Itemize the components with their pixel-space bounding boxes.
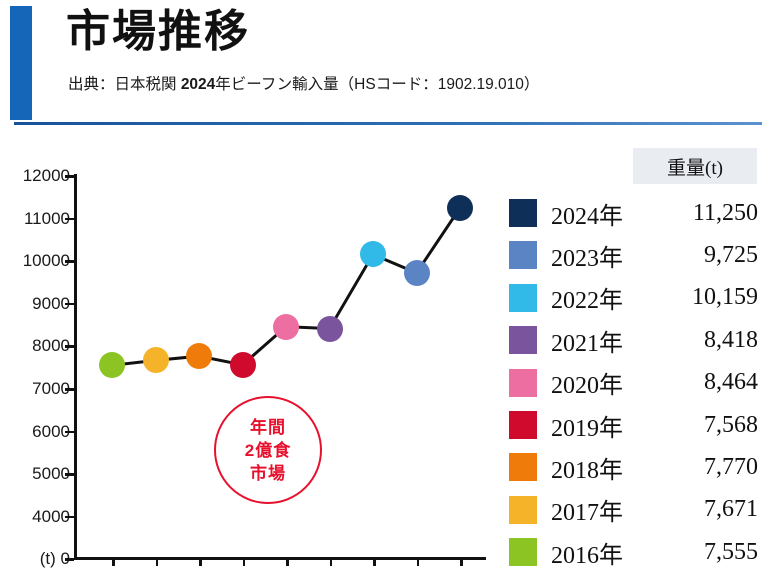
- page-subtitle: 出典：日本税関 2024年ビーフン輸入量（HSコード：1902.19.010）: [68, 72, 539, 94]
- y-axis-tick: [65, 388, 74, 391]
- annotation-line-1: 年間: [250, 416, 286, 439]
- trend-line: [74, 140, 494, 583]
- legend-row[interactable]: 2016年7,555: [505, 532, 762, 572]
- x-axis-tick: [373, 557, 376, 566]
- x-axis-tick: [330, 557, 333, 566]
- x-axis-tick: [286, 557, 289, 566]
- y-axis-tick-label: 6000: [0, 422, 70, 442]
- y-axis-tick-label: 5000: [0, 464, 70, 484]
- legend-color-swatch: [509, 284, 537, 312]
- legend-row[interactable]: 2022年10,159: [505, 278, 762, 318]
- annotation-line-2: 2億食: [245, 439, 291, 462]
- legend-year-label: 2019年: [551, 408, 671, 443]
- legend-row[interactable]: 2023年9,725: [505, 235, 762, 275]
- legend-header-weight: 重量(t): [633, 148, 757, 184]
- legend-row[interactable]: 2018年7,770: [505, 447, 762, 487]
- x-axis-tick: [417, 557, 420, 566]
- y-axis-tick-label: 10000: [0, 251, 70, 271]
- data-point-2024年[interactable]: [447, 195, 473, 221]
- subtitle-prefix: 出典：日本税関: [68, 76, 181, 93]
- y-axis-tick-label: 11000: [0, 209, 70, 229]
- y-axis-tick-label: 12000: [0, 166, 70, 186]
- legend-weight-value: 9,725: [671, 242, 762, 269]
- legend-year-label: 2021年: [551, 323, 671, 358]
- x-axis-tick: [112, 557, 115, 566]
- legend-color-swatch: [509, 241, 537, 269]
- y-axis-tick: [65, 431, 74, 434]
- legend-color-swatch: [509, 326, 537, 354]
- chart-area: 120001100010000900080007000600050004000(…: [0, 140, 500, 583]
- legend-weight-value: 7,770: [671, 454, 762, 481]
- legend-year-label: 2016年: [551, 535, 671, 570]
- y-axis-tick-label: 8000: [0, 336, 70, 356]
- data-point-2020年[interactable]: [273, 314, 299, 340]
- y-axis-tick: [65, 303, 74, 306]
- legend-row[interactable]: 2020年8,464: [505, 363, 762, 403]
- legend-weight-value: 7,555: [671, 539, 762, 566]
- legend-weight-value: 11,250: [671, 200, 762, 227]
- y-axis-tick-label: 7000: [0, 379, 70, 399]
- legend-weight-value: 10,159: [671, 284, 762, 311]
- annotation-line-3: 市場: [250, 462, 286, 485]
- data-point-2021年[interactable]: [317, 316, 343, 342]
- header-accent-bar: [10, 6, 32, 120]
- legend-weight-value: 8,464: [671, 369, 762, 396]
- legend-year-label: 2024年: [551, 196, 671, 231]
- y-axis-tick: [65, 218, 74, 221]
- legend-row[interactable]: 2021年8,418: [505, 320, 762, 360]
- legend-year-label: 2023年: [551, 238, 671, 273]
- legend-table: 重量(t) 2024年11,2502023年9,7252022年10,15920…: [505, 145, 762, 583]
- x-axis-tick: [243, 557, 246, 566]
- legend-color-swatch: [509, 496, 537, 524]
- legend-year-label: 2020年: [551, 365, 671, 400]
- header-divider: [14, 122, 762, 125]
- data-point-2023年[interactable]: [404, 260, 430, 286]
- subtitle-suffix: 年ビーフン輸入量（HSコード：1902.19.010）: [215, 76, 539, 93]
- page-title: 市場推移: [66, 2, 250, 62]
- annotation-badge: 年間2億食市場: [214, 396, 322, 504]
- market-trend-chart-page: 市場推移 出典：日本税関 2024年ビーフン輸入量（HSコード：1902.19.…: [0, 0, 762, 583]
- data-point-2018年[interactable]: [186, 343, 212, 369]
- data-point-2022年[interactable]: [360, 241, 386, 267]
- x-axis-tick: [460, 557, 463, 566]
- y-axis-tick: [65, 473, 74, 476]
- legend-color-swatch: [509, 369, 537, 397]
- legend-weight-value: 8,418: [671, 327, 762, 354]
- legend-color-swatch: [509, 538, 537, 566]
- legend-color-swatch: [509, 411, 537, 439]
- y-axis-tick: [65, 260, 74, 263]
- legend-weight-value: 7,671: [671, 496, 762, 523]
- x-axis-tick: [156, 557, 159, 566]
- x-axis-tick: [199, 557, 202, 566]
- legend-year-label: 2017年: [551, 492, 671, 527]
- y-axis-tick-label: 4000: [0, 507, 70, 527]
- y-axis-labels: 120001100010000900080007000600050004000(…: [0, 140, 70, 583]
- legend-year-label: 2018年: [551, 450, 671, 485]
- legend-color-swatch: [509, 453, 537, 481]
- plot-area: 年間2億食市場: [74, 140, 494, 583]
- legend-row[interactable]: 2024年11,250: [505, 193, 762, 233]
- y-axis-tick: [65, 175, 74, 178]
- legend-row[interactable]: 2019年7,568: [505, 405, 762, 445]
- y-axis-tick: [65, 345, 74, 348]
- legend-weight-value: 7,568: [671, 412, 762, 439]
- y-axis-tick: [65, 558, 74, 561]
- subtitle-year: 2024: [181, 76, 215, 93]
- legend-row[interactable]: 2017年7,671: [505, 490, 762, 530]
- data-point-2017年[interactable]: [143, 347, 169, 373]
- y-axis-tick: [65, 516, 74, 519]
- y-axis-tick-label: 9000: [0, 294, 70, 314]
- data-point-2019年[interactable]: [230, 352, 256, 378]
- y-axis-unit-zero: (t) 0: [0, 549, 70, 569]
- legend-year-label: 2022年: [551, 280, 671, 315]
- legend-color-swatch: [509, 199, 537, 227]
- page-header: 市場推移 出典：日本税関 2024年ビーフン輸入量（HSコード：1902.19.…: [0, 0, 762, 126]
- data-point-2016年[interactable]: [99, 352, 125, 378]
